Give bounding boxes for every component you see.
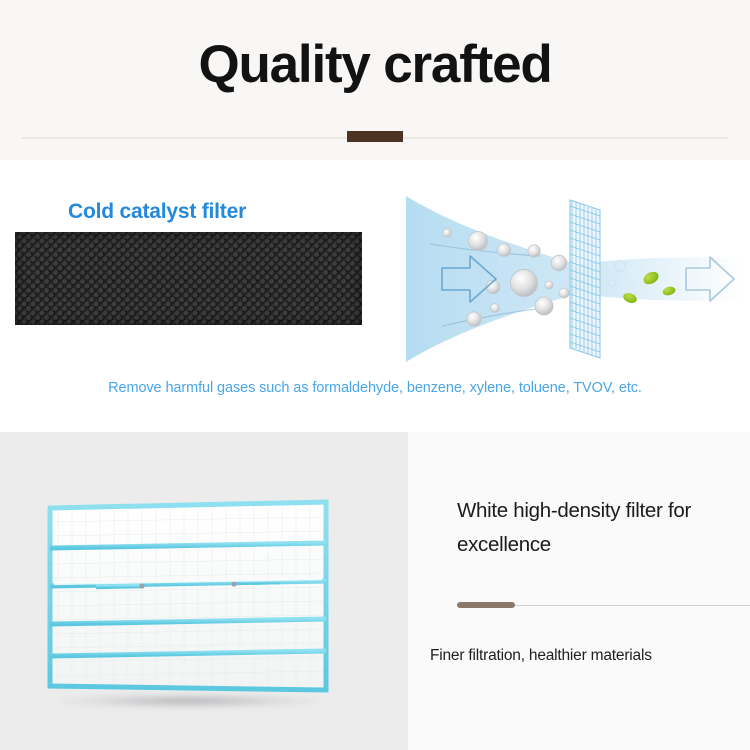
- honeycomb-filter-image: [15, 232, 362, 325]
- feature-divider-accent: [457, 602, 515, 608]
- page-title: Quality crafted: [0, 36, 750, 94]
- cold-catalyst-heading: Cold catalyst filter: [68, 200, 246, 224]
- header-accent-bar: [347, 131, 403, 142]
- product-drop-shadow: [56, 694, 322, 708]
- airflow-inlet-stream: [406, 196, 576, 362]
- filter-mesh-body: [50, 502, 326, 690]
- filter-hinge-dot: [231, 581, 236, 586]
- feature-text-panel: [408, 432, 750, 750]
- white-filter-image: [38, 494, 338, 698]
- mesh-filter-screen: [570, 200, 600, 358]
- airflow-diagram: [398, 188, 750, 370]
- feature-subtitle: Finer filtration, healthier materials: [430, 647, 652, 665]
- product-image-panel: [0, 432, 408, 750]
- cold-catalyst-section: Cold catalyst filter: [0, 160, 750, 428]
- feature-title: White high-density filter for excellence: [457, 494, 742, 563]
- product-feature-page: Quality crafted Cold catalyst filter: [0, 0, 750, 750]
- harmful-gases-caption: Remove harmful gases such as formaldehyd…: [0, 380, 750, 396]
- filter-hinge-dot: [139, 583, 144, 588]
